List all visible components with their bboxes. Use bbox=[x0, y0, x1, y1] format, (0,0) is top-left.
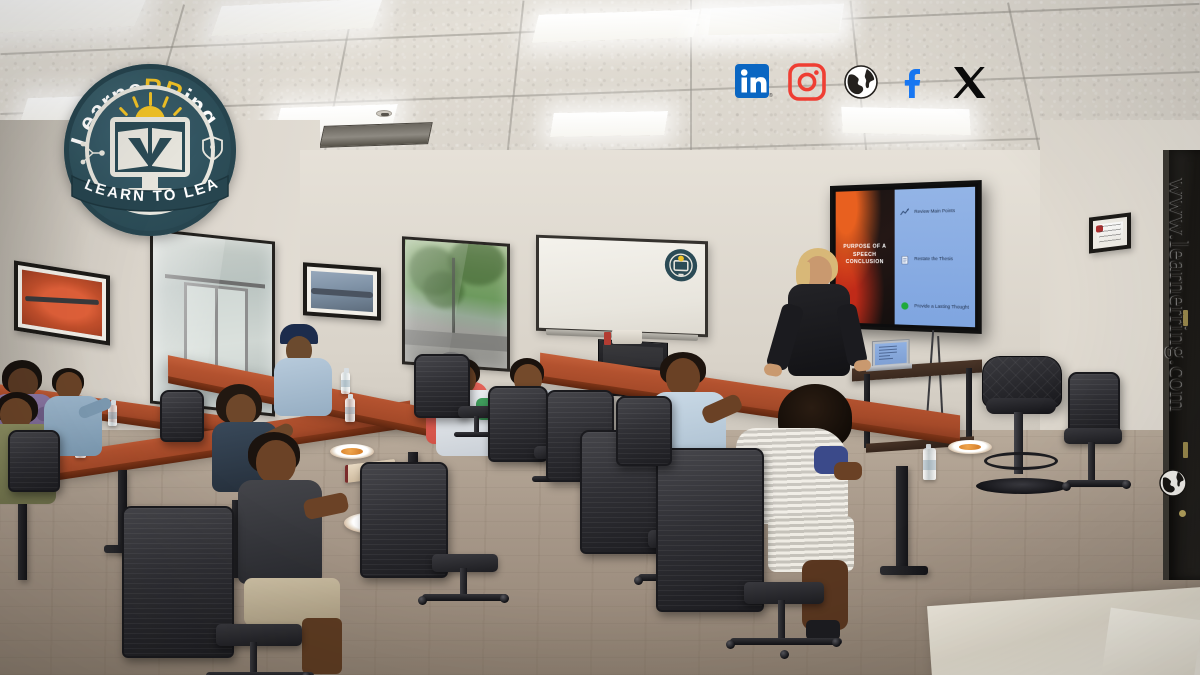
drafting-stool-footring bbox=[984, 452, 1058, 470]
slide-bullets-panel: Review Main Points Restate the Thesis bbox=[894, 187, 975, 327]
certificate-text-lines bbox=[1099, 224, 1121, 242]
osprey-artwork bbox=[311, 271, 373, 312]
ceiling-vent bbox=[319, 122, 433, 148]
logo-network-node-icon bbox=[80, 140, 106, 166]
student-5-head bbox=[256, 440, 296, 484]
helicopter-artwork bbox=[22, 270, 102, 337]
student-7 bbox=[272, 324, 346, 414]
table-leg bbox=[896, 466, 908, 574]
logo-open-book-icon bbox=[116, 126, 184, 172]
presenter-right-hand bbox=[853, 359, 871, 372]
framed-osprey-photo bbox=[303, 262, 381, 320]
drafting-stool-base bbox=[976, 478, 1068, 494]
water-bottle bbox=[345, 398, 355, 422]
green-dot-icon bbox=[900, 301, 910, 312]
chart-icon bbox=[900, 207, 910, 218]
ceiling-light-panel bbox=[550, 111, 668, 137]
social-icon-bar: ® bbox=[733, 58, 991, 106]
student-5-leg bbox=[302, 618, 342, 674]
facebook-icon[interactable] bbox=[895, 62, 935, 102]
door-knob[interactable] bbox=[1179, 510, 1186, 517]
slide-bullet-3-label: Provide a Lasting Thought bbox=[914, 304, 969, 311]
laptop-screen bbox=[875, 342, 907, 365]
logo-shield-icon bbox=[202, 136, 223, 161]
x-icon[interactable] bbox=[949, 62, 989, 102]
certificate-artwork bbox=[1097, 221, 1123, 244]
student-right-1-head bbox=[666, 358, 700, 396]
student-right-2-forearm bbox=[834, 462, 862, 480]
student-7-torso bbox=[274, 358, 332, 416]
student-right-2-sock bbox=[806, 620, 840, 640]
ceiling-light-panel bbox=[841, 107, 971, 135]
framed-helicopter-photo bbox=[14, 260, 110, 345]
learnerring-logo: LearneRRing bbox=[64, 64, 236, 236]
logo-tagline-ribbon: LEARN TO LEAD bbox=[70, 174, 230, 226]
ceiling-light-panel bbox=[532, 9, 701, 43]
linkedin-icon[interactable]: ® bbox=[733, 62, 773, 102]
framed-certificate bbox=[1089, 212, 1131, 253]
whiteboard-logo-decal bbox=[664, 248, 698, 283]
classroom-photo: PURPOSE OF A SPEECH CONCLUSION Review Ma… bbox=[0, 0, 1200, 675]
food-plate bbox=[948, 440, 992, 454]
student-5-torso bbox=[238, 480, 322, 584]
svg-text:®: ® bbox=[769, 92, 773, 99]
globe-watermark-icon bbox=[1158, 468, 1188, 498]
ceiling-light-panel bbox=[708, 7, 841, 35]
slide-bullet-2-label: Restate the Thesis bbox=[914, 257, 953, 262]
slide-bullet-3: Provide a Lasting Thought bbox=[900, 298, 971, 317]
globe-icon[interactable] bbox=[841, 62, 881, 102]
document-icon bbox=[900, 255, 910, 265]
red-cup bbox=[604, 332, 611, 345]
cup-stack bbox=[612, 330, 642, 344]
slide-bullet-1: Review Main Points bbox=[900, 202, 971, 221]
instagram-icon[interactable] bbox=[787, 62, 827, 102]
table-leg bbox=[880, 566, 928, 575]
slide-bullet-2: Restate the Thesis bbox=[900, 251, 971, 268]
smoke-detector-icon bbox=[376, 110, 392, 117]
whiteboard bbox=[536, 235, 708, 338]
slide-bullet-1-label: Review Main Points bbox=[914, 209, 955, 215]
water-bottle bbox=[923, 448, 936, 480]
website-url: www.learnerring.com bbox=[1164, 178, 1194, 412]
